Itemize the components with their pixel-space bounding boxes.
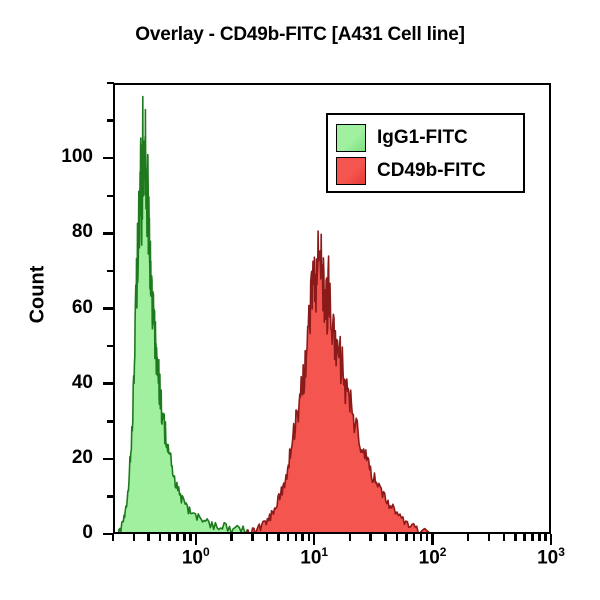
x-tick-8 xyxy=(301,534,304,541)
legend-item-igg1: IgG1-FITC xyxy=(336,121,523,154)
x-tick-30 xyxy=(369,534,372,541)
x-tick-0.6000000000000001 xyxy=(168,534,171,541)
x-tick-2 xyxy=(230,534,233,541)
x-tick-20 xyxy=(349,534,352,541)
legend-swatch-igg1 xyxy=(336,124,366,152)
x-tick-0.7000000000000001 xyxy=(176,534,179,541)
y-tick-label-80: 80 xyxy=(55,221,93,243)
x-tick-600 xyxy=(523,534,526,541)
histogram-curve-igg1-fitc xyxy=(118,96,275,534)
legend-item-cd49b: CD49b-FITC xyxy=(336,154,523,187)
x-tick-5 xyxy=(277,534,280,541)
flow-cytometry-histogram: Overlay - CD49b-FITC [A431 Cell line] Co… xyxy=(0,0,600,600)
x-tick-0.8 xyxy=(183,534,186,541)
legend-label-cd49b: CD49b-FITC xyxy=(377,161,486,180)
x-tick-100 xyxy=(431,534,434,545)
x-tick-50 xyxy=(396,534,399,541)
x-tick-10 xyxy=(313,534,316,545)
y-axis-label: Count xyxy=(27,235,50,355)
x-tick-label-100: 102 xyxy=(398,545,468,569)
x-tick-9 xyxy=(308,534,311,541)
x-tick-200 xyxy=(467,534,470,541)
x-tick-900 xyxy=(544,534,547,541)
y-tick-label-20: 20 xyxy=(55,447,93,469)
legend-swatch-cd49b xyxy=(336,157,366,185)
x-tick-3 xyxy=(251,534,254,541)
x-tick-4 xyxy=(266,534,269,541)
x-tick-800 xyxy=(538,534,541,541)
x-tick-60 xyxy=(405,534,408,541)
x-tick-400 xyxy=(503,534,506,541)
y-tick-label-40: 40 xyxy=(55,372,93,394)
x-tick-0.9 xyxy=(189,534,192,541)
x-tick-300 xyxy=(488,534,491,541)
y-tick-label-60: 60 xyxy=(55,297,93,319)
x-tick-40 xyxy=(384,534,387,541)
y-tick-label-100: 100 xyxy=(55,146,93,168)
legend-label-igg1: IgG1-FITC xyxy=(377,128,468,147)
x-tick-0.4 xyxy=(147,534,150,541)
x-tick-7 xyxy=(295,534,298,541)
x-tick-90 xyxy=(426,534,429,541)
x-tick-700 xyxy=(531,534,534,541)
histogram-curve-cd49b-fitc xyxy=(243,231,435,535)
x-tick-0.30000000000000004 xyxy=(133,534,136,541)
x-tick-80 xyxy=(420,534,423,541)
x-tick-label-1000: 103 xyxy=(516,545,586,569)
legend: IgG1-FITC CD49b-FITC xyxy=(326,113,525,193)
x-tick-1 xyxy=(195,534,198,545)
x-tick-0.5 xyxy=(159,534,162,541)
x-tick-0.2 xyxy=(112,534,115,541)
x-tick-1000 xyxy=(550,534,553,545)
x-tick-70 xyxy=(413,534,416,541)
y-tick-label-0: 0 xyxy=(55,522,93,544)
x-tick-label-1: 100 xyxy=(161,545,231,569)
x-tick-6 xyxy=(287,534,290,541)
x-tick-500 xyxy=(514,534,517,541)
x-tick-label-10: 101 xyxy=(279,545,349,569)
chart-title: Overlay - CD49b-FITC [A431 Cell line] xyxy=(0,24,600,46)
